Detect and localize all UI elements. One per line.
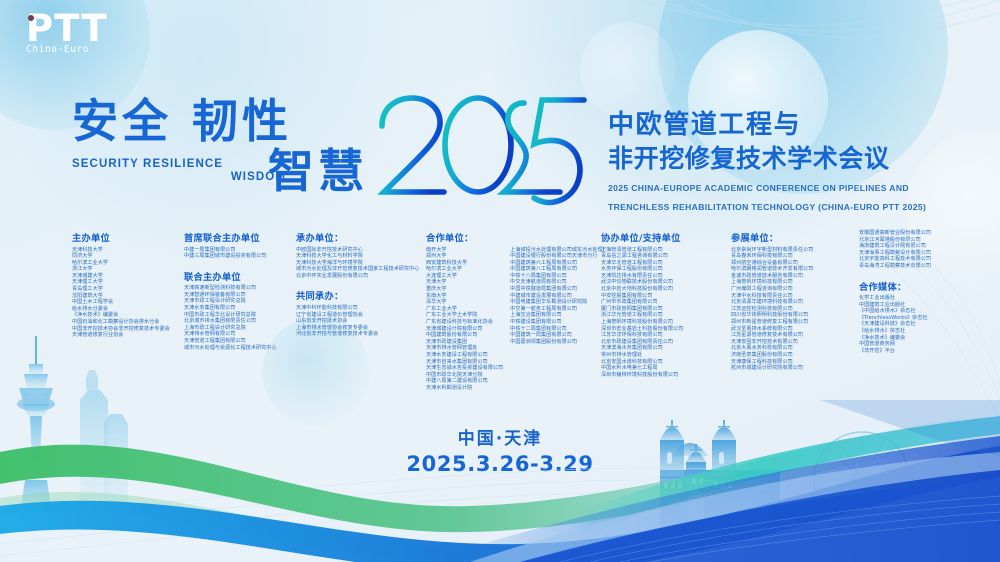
sponsor-group: 合作单位：南开大学郑州大学西安建筑科技大学哈尔滨工业大学大连理工大学天津大学重庆… (426, 230, 601, 392)
sponsor-subcolumns: 南开大学郑州大学西安建筑科技大学哈尔滨工业大学大连理工大学天津大学重庆大学东南大… (426, 247, 601, 392)
sponsor-item: 中国土木工程学会 (72, 299, 184, 306)
sponsor-group: 安徽国通高新管业股份有限公司北京江河幕墙股份有限公司海南建筑工程设计院有限公司天… (859, 230, 978, 270)
sponsor-column-chief-co-organizers: 首席联合主办单位中建一局集团有限公司中建三局集团城市建设投资有限公司联合主办单位… (184, 230, 296, 412)
sponsor-item: 天津管道修复行业协会 (72, 332, 184, 339)
sponsor-item: 杭州市城建设计研究院有限公司 (731, 365, 859, 372)
sponsor-column-media-partners: 安徽国通高新管业股份有限公司北京江河幕墙股份有限公司海南建筑工程设计院有限公司天… (859, 230, 978, 412)
slogan-en-line-1: SECURITY RESILIENCE (72, 158, 223, 170)
logo-accent-dot (28, 15, 34, 21)
sponsor-item: 同济大学 (72, 253, 184, 260)
sponsor-item: 中建八局第二建设有限公司 (426, 378, 503, 385)
sponsor-group-heading: 承办单位： (296, 230, 426, 244)
sponsor-group-heading: 合作单位： (426, 230, 601, 244)
sponsor-list: 上海管清管道工程有限公司青岛信之源工程咨询有限公司天津华北管道工程有限公司水务环… (601, 247, 731, 379)
sponsor-item: 江苏星源管道修复技术有限公司 (731, 332, 859, 339)
sponsor-board: 主办单位天津科技大学同济大学哈尔滨工业大学浙江大学天津城建大学天津理工大学青岛理… (72, 230, 978, 412)
sponsor-item: 天津生态城水务投资建设有限公司 (426, 365, 503, 372)
sponsor-group-heading: 参展单位： (731, 230, 859, 244)
event-date: 2025.3.26-3.29 (0, 452, 1000, 476)
sponsor-group: 协办单位/支持单位上海管清管道工程有限公司青岛信之源工程咨询有限公司天津华北管道… (601, 230, 731, 378)
sponsor-group: 合作媒体：化学工业出版社中国建筑工业出版社《中国给水排水》杂志社《Trenchl… (859, 279, 978, 355)
title-cn-line-2: 非开挖修复技术学术会议 (608, 142, 948, 176)
sponsor-item: 《非开挖》平台 (859, 348, 978, 355)
sponsor-item: 青岛理工大学 (72, 286, 184, 293)
sponsor-item: 水务环保工程股份有限公司 (601, 266, 731, 273)
sponsor-column-undertakers: 承办单位：中欧国际非开挖技术研究中心天津科技大学化工与材料学院天津科技大学海洋与… (296, 230, 426, 412)
sponsor-item: 《给水排水》杂志社 (859, 328, 978, 335)
sponsor-item: 化学工业出版社 (859, 295, 978, 302)
sponsor-item: 海南建筑工程设计院有限公司 (859, 243, 978, 250)
sponsor-item: 郑州市新星管道修复工程有限公司 (731, 319, 859, 326)
sponsor-group-heading: 共同承办： (296, 288, 426, 302)
sponsor-item: 天津高速新型检测科技有限公司 (184, 285, 296, 292)
sponsor-item: 天津水务建设工程有限公司 (426, 352, 503, 359)
sponsor-item: 天津科技大学化工与材料学院 (296, 253, 426, 260)
sponsor-item: 城市污水处理与资源化工程技术研究中心 (184, 345, 296, 352)
sponsor-item: 中国建筑股份有限公司 (426, 332, 503, 339)
sponsor-item: 天津水务集团有限公司 (184, 305, 296, 312)
sponsor-item: 天津水利勘测设计院 (426, 385, 503, 392)
sponsor-item: 北京清源华建环境科技有限公司 (731, 299, 859, 306)
sponsor-item: 中国电建集团华东勘测设计研究院 (510, 299, 608, 306)
sponsor-list: 安徽国通高新管业股份有限公司北京江河幕墙股份有限公司海南建筑工程设计院有限公司天… (859, 230, 978, 270)
sponsor-item: 中国建设银行股份有限公司天津市分行 (510, 253, 608, 260)
logo-wordmark: PTT (26, 12, 122, 46)
sponsor-item: 中铁建设集团有限公司 (510, 319, 608, 326)
sponsor-list: 天津中科环能科技有限公司辽宁省建设工程造价管理协会山东省非开挖技术协会上海市排水… (296, 305, 426, 338)
sponsor-list: 上海城投污水处理有限公司城东污水处理厂中国建设银行股份有限公司天津市分行中国建筑… (510, 247, 608, 392)
sponsor-item: 中国水利水电第七工程局 (601, 365, 731, 372)
conference-title-block: 中欧管道工程与 非开挖修复技术学术会议 2025 CHINA-EUROPE AC… (608, 108, 948, 213)
sponsor-item: 江苏华淳环保科技有限公司 (601, 332, 731, 339)
sponsor-item: 北京大禹水务科技有限公司 (731, 345, 859, 352)
sponsor-group: 参展单位：北京崇尚环宇新型材料有限责任公司青岛春禾环保科技有限公司郑州航空港综合… (731, 230, 859, 372)
sponsor-item: 深圳市巍特环境科技股份有限公司 (601, 372, 731, 379)
sponsor-group-heading: 协办单位/支持单位 (601, 230, 731, 244)
sponsor-item: 中国中铁隧道局集团有限公司 (510, 286, 608, 293)
sponsor-item: 北京城市排水集团有限责任公司 (184, 318, 296, 325)
sponsor-item: 哈尔滨工业大学 (426, 266, 503, 273)
sponsor-group: 联合主办单位天津高速新型检测科技有限公司天津智通环保装备有限公司天津市政工程设计… (184, 269, 296, 351)
sponsor-item: 安徽国通高新管业股份有限公司 (859, 230, 978, 237)
sponsor-list: 南开大学郑州大学西安建筑科技大学哈尔滨工业大学大连理工大学天津大学重庆大学东南大… (426, 247, 503, 392)
sponsor-item: 北京中岩大地科技股份有限公司 (601, 286, 731, 293)
sponsor-list: 中建一局集团有限公司中建三局集团城市建设投资有限公司 (184, 247, 296, 260)
event-city: 中国·天津 (0, 424, 1000, 449)
sponsor-item: 山东省非开挖技术协会 (296, 318, 426, 325)
year-2025-svg (374, 92, 596, 218)
sponsor-item: 广州市市政集团有限公司 (601, 299, 731, 306)
sponsor-item: 城市污水处理及非开挖修复技术国家工程技术研究中心 (296, 266, 426, 273)
slogan-line-1: 安全 韧性 (72, 96, 372, 146)
sponsor-item: 上海誉帆环境科技股份有限公司 (601, 319, 731, 326)
sponsor-item: 哈尔滨朗格润管道技术开发有限公司 (731, 266, 859, 273)
sponsor-group-heading: 联合主办单位 (184, 269, 296, 283)
sponsor-column-supporting-units: 协办单位/支持单位上海管清管道工程有限公司青岛信之源工程咨询有限公司天津华北管道… (601, 230, 731, 412)
sponsor-list: 北京崇尚环宇新型材料有限责任公司青岛春禾环保科技有限公司郑州航空港综合设备有限公… (731, 247, 859, 372)
sponsor-item: 青岛海湾工程勘察技术有限公司 (859, 263, 978, 270)
sponsor-item: 广东省建设科技与标准化协会 (426, 319, 503, 326)
sponsor-item: 中国管道商务网 (859, 341, 978, 348)
sponsor-group: 首席联合主办单位中建一局集团有限公司中建三局集团城市建设投资有限公司 (184, 230, 296, 260)
sponsor-item: 中建三局集团城市建设投资有限公司 (184, 253, 296, 260)
ptt-logo: PTT China-Euro (26, 12, 122, 70)
sponsor-list: 化学工业出版社中国建筑工业出版社《中国给水排水》杂志社《TrenchlessWo… (859, 295, 978, 354)
title-cn-line-1: 中欧管道工程与 (608, 108, 948, 142)
event-location-block: 中国·天津 2025.3.26-3.29 (0, 424, 1000, 476)
sponsor-column-exhibitors: 参展单位：北京崇尚环宇新型材料有限责任公司青岛春禾环保科技有限公司郑州航空港综合… (731, 230, 859, 412)
conference-backdrop: PTT China-Euro 安全 韧性 智慧 SECURITY RESILIE… (0, 0, 1000, 562)
sponsor-item: 青岛信之源工程咨询有限公司 (601, 253, 731, 260)
slogan-block: 安全 韧性 智慧 SECURITY RESILIENCE WISDOM (72, 96, 372, 196)
sponsor-item: 天津排水管网有限公司 (184, 331, 296, 338)
sponsor-list: 天津高速新型检测科技有限公司天津智通环保装备有限公司天津市政工程设计研究总院天津… (184, 285, 296, 351)
sponsor-group-heading: 主办单位 (72, 230, 184, 244)
title-en-line-1: 2025 CHINA-EUROPE ACADEMIC CONFERENCE ON… (608, 183, 948, 195)
year-2025-logo (374, 92, 596, 218)
sponsor-item: 中国石油和化工勘察设计协会排水分会 (72, 319, 184, 326)
sponsor-item: 《中国给水排水》杂志社 (859, 308, 978, 315)
sponsor-item: 中国建筑一局集团有限公司 (510, 332, 608, 339)
sponsor-group: 承办单位：中欧国际非开挖技术研究中心天津科技大学化工与材料学院天津科技大学海洋与… (296, 230, 426, 279)
sponsor-group-heading: 合作媒体： (859, 279, 978, 293)
sponsor-item: 天津中科环能科技有限公司 (296, 305, 426, 312)
slogan-english: SECURITY RESILIENCE WISDOM (72, 158, 286, 184)
sponsor-item: 河北省非开挖与管道修复技术专委会 (296, 331, 426, 338)
slogan-en-line-2: WISDOM (72, 171, 286, 184)
sponsor-group: 主办单位天津科技大学同济大学哈尔滨工业大学浙江大学天津城建大学天津理工大学青岛理… (72, 230, 184, 339)
sponsor-item: 天津管道工程集团有限公司 (184, 338, 296, 345)
sponsor-group: 共同承办：天津中科环能科技有限公司辽宁省建设工程造价管理协会山东省非开挖技术协会… (296, 288, 426, 337)
sponsor-item: 青岛春禾环保科技有限公司 (731, 253, 859, 260)
sponsor-item: 天津市排水管网管理处 (426, 345, 503, 352)
sponsor-item: 天津滨海水务集团有限公司 (601, 345, 731, 352)
sponsor-item: 济南圣泉集团股份有限公司 (731, 352, 859, 359)
sponsor-column-organizers: 主办单位天津科技大学同济大学哈尔滨工业大学浙江大学天津城建大学天津理工大学青岛理… (72, 230, 184, 412)
sponsor-group-heading: 首席联合主办单位 (184, 230, 296, 244)
sponsor-item: 重庆大学 (426, 286, 503, 293)
sponsor-column-cooperating-units: 合作单位：南开大学郑州大学西安建筑科技大学哈尔滨工业大学大连理工大学天津大学重庆… (426, 230, 601, 412)
sponsor-item: 浙江大学 (72, 266, 184, 273)
sponsor-item: 北京宇能高科工程技术有限公司 (859, 256, 978, 263)
sponsor-item: 常州市排水管理处 (601, 352, 731, 359)
sponsor-list: 中欧国际非开挖技术研究中心天津科技大学化工与材料学院天津科技大学海洋与环境学院城… (296, 247, 426, 280)
sponsor-item: 清华大学 (426, 299, 503, 306)
title-en-line-2: TRENCHLESS REHABILITATION TECHNOLOGY (CH… (608, 202, 948, 214)
sponsor-item: 中国建筑第八工程局有限公司 (510, 266, 608, 273)
sponsor-item: 中国葛洲坝集团股份有限公司 (510, 339, 608, 346)
sponsor-item: 天津市政工程设计研究总院 (184, 298, 296, 305)
sponsor-item: 北京中环实业发展股份有限公司 (296, 273, 426, 280)
sponsor-list: 天津科技大学同济大学哈尔滨工业大学浙江大学天津城建大学天津理工大学青岛理工大学沈… (72, 247, 184, 339)
sponsor-item: 广州瀚阳工程咨询有限公司 (731, 286, 859, 293)
sponsor-item: 郑州大学 (426, 253, 503, 260)
